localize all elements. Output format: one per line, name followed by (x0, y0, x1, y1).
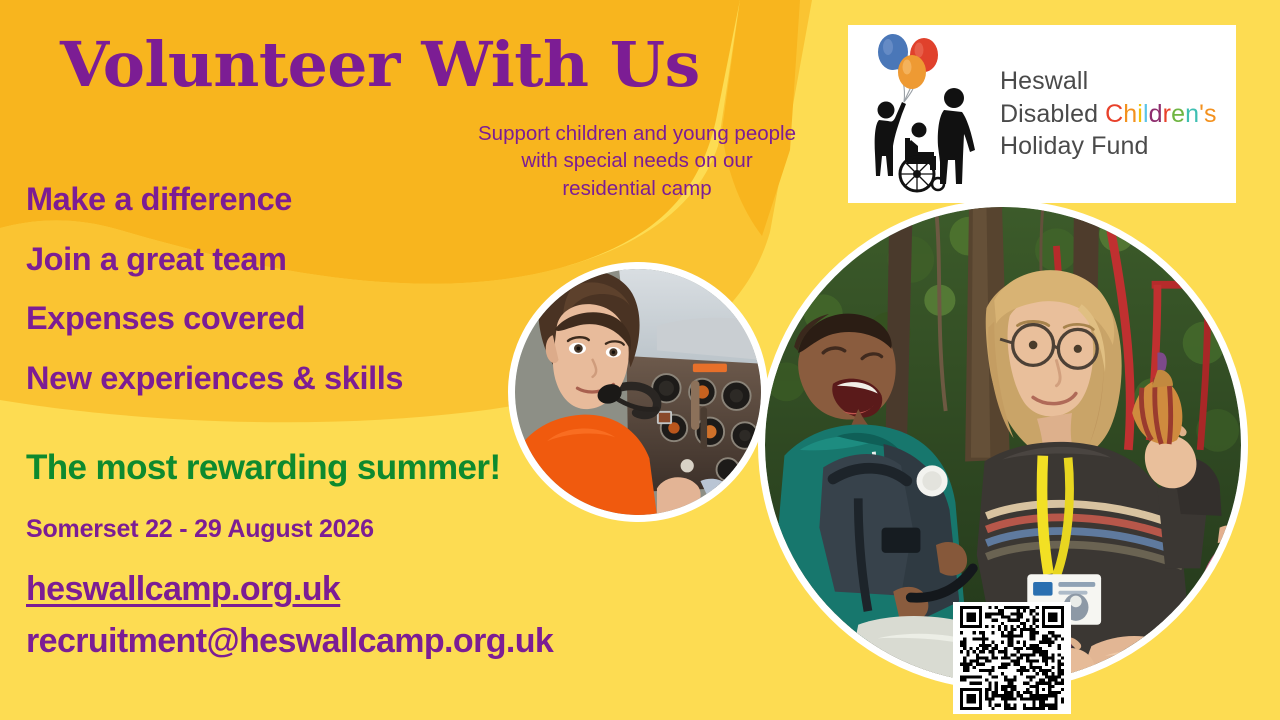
logo-line-3: Holiday Fund (1000, 130, 1217, 163)
logo-letter-6: e (1171, 100, 1185, 128)
logo-letter-7: n (1185, 100, 1199, 128)
photo-cockpit-image (515, 269, 761, 515)
logo-letter-0: C (1105, 100, 1123, 128)
benefit-item: Join a great team (26, 243, 546, 276)
camp-dates: Somerset 22 - 29 August 2026 (26, 515, 374, 544)
qr-code[interactable] (953, 602, 1071, 714)
email-address: recruitment@heswallcamp.org.uk (26, 622, 553, 661)
page-title: Volunteer With Us (60, 28, 700, 101)
logo-letter-5: r (1163, 100, 1171, 128)
benefit-item: New experiences & skills (26, 362, 546, 395)
tagline: The most rewarding summer! (26, 448, 501, 488)
benefit-item: Expenses covered (26, 302, 546, 335)
logo-letter-1: h (1123, 100, 1137, 128)
logo-letter-8: 's (1199, 100, 1216, 128)
website-link[interactable]: heswallcamp.org.uk (26, 570, 340, 609)
qr-code-image (957, 606, 1067, 710)
photo-cockpit (508, 262, 768, 522)
logo-letter-4: d (1149, 100, 1163, 128)
logo-line-2: Disabled Children's (1000, 98, 1217, 131)
benefit-item: Make a difference (26, 183, 546, 216)
benefits-list: Make a difference Join a great team Expe… (26, 183, 546, 421)
charity-logo-card: Heswall Disabled Children's Holiday Fund (848, 25, 1236, 203)
logo-wordmark: Heswall Disabled Children's Holiday Fund (1000, 65, 1217, 163)
logo-line-1: Heswall (1000, 65, 1217, 98)
logo-childrens-word: Children's (1105, 100, 1216, 128)
poster-canvas: Volunteer With Us Support children and y… (0, 0, 1280, 720)
logo-figures-and-balloons-icon (862, 34, 992, 194)
logo-disabled-word: Disabled (1000, 100, 1105, 128)
